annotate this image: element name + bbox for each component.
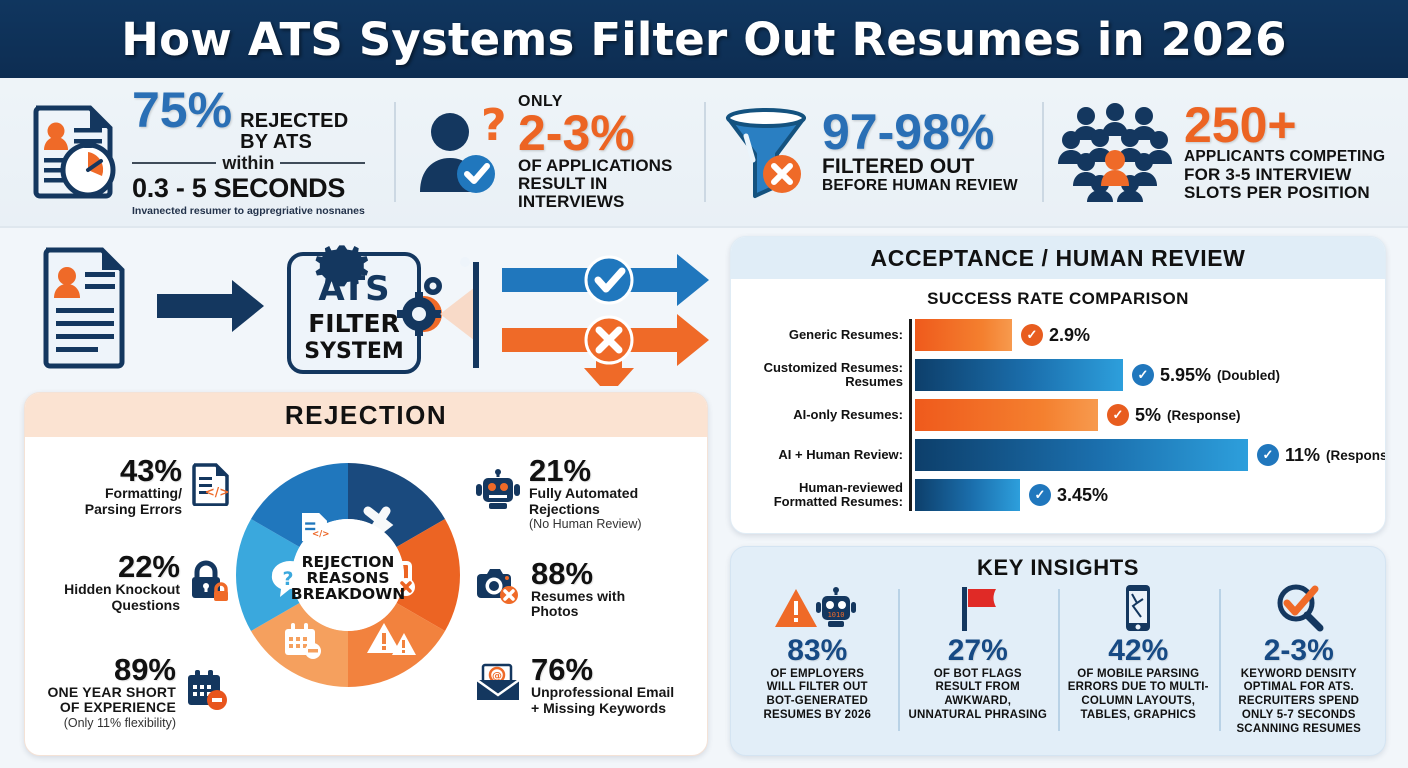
stat-value: 250+ bbox=[1184, 102, 1385, 150]
bar-generic-resumes bbox=[915, 319, 1012, 351]
key-insight-number: 2-3% bbox=[1264, 635, 1334, 667]
svg-text:</>: </> bbox=[205, 485, 230, 499]
svg-text:</>: </> bbox=[312, 529, 330, 539]
stat-label-line2: RESULT IN INTERVIEWS bbox=[518, 175, 704, 210]
page-header: How ATS Systems Filter Out Resumes in 20… bbox=[0, 0, 1408, 78]
file-code-icon: </> bbox=[190, 462, 230, 511]
calendar-minus-icon bbox=[184, 668, 230, 717]
item-desc-1: Fully Automated bbox=[529, 486, 642, 502]
email-at-icon: @ bbox=[475, 662, 523, 709]
item-desc-1: Resumes with bbox=[531, 589, 625, 605]
list-item: 89% ONE YEAR SHORT OF EXPERIENCE (Only 1… bbox=[25, 654, 230, 731]
key-insight-number: 27% bbox=[948, 635, 1008, 667]
bar-category: Human-reviewedFormatted Resumes: bbox=[731, 481, 909, 509]
stat-value: 97-98% bbox=[822, 109, 1018, 157]
item-pct: 89% bbox=[47, 654, 176, 685]
item-pct: 88% bbox=[531, 558, 625, 589]
stat-label-line2: BY ATS bbox=[240, 131, 312, 153]
acceptance-panel: ACCEPTANCE / HUMAN REVIEW SUCCESS RATE C… bbox=[730, 236, 1386, 534]
chart-bar-row: Human-reviewedFormatted Resumes: ✓ 3.45% bbox=[731, 479, 1114, 511]
svg-text:?: ? bbox=[481, 100, 507, 151]
chart-subtitle: SUCCESS RATE COMPARISON bbox=[731, 289, 1385, 309]
key-insight-text: KEYWORD DENSITY OPTIMAL FOR ATS. RECRUIT… bbox=[1236, 668, 1361, 737]
bar-note: (Response) bbox=[1167, 408, 1241, 423]
bar-value-group: ✓ 11% (Response) bbox=[1257, 444, 1386, 466]
item-note: (Only 11% flexibility) bbox=[47, 716, 176, 730]
stat-label-line3: SLOTS PER POSITION bbox=[1184, 184, 1385, 202]
rejection-donut-chart: </> ? bbox=[228, 455, 468, 695]
item-desc-2: Parsing Errors bbox=[85, 502, 182, 518]
bar-value: 2.9% bbox=[1049, 325, 1090, 346]
item-desc-1: Formatting/ bbox=[85, 486, 182, 502]
resume-stopwatch-icon bbox=[26, 98, 122, 207]
stat-value: 75% bbox=[132, 87, 232, 135]
bar-category: AI-only Resumes: bbox=[731, 408, 909, 422]
infographic-page: How ATS Systems Filter Out Resumes in 20… bbox=[0, 0, 1408, 768]
acceptance-panel-header: ACCEPTANCE / HUMAN REVIEW bbox=[731, 237, 1385, 279]
donut-center-line3: BREAKDOWN bbox=[291, 585, 405, 603]
page-title: How ATS Systems Filter Out Resumes in 20… bbox=[121, 13, 1286, 66]
bar-note: (Doubled) bbox=[1217, 368, 1280, 383]
bar-value-group: ✓ 3.45% bbox=[1029, 484, 1114, 506]
svg-text:FILTER: FILTER bbox=[308, 309, 400, 338]
item-desc-1: ONE YEAR SHORT bbox=[47, 685, 176, 701]
check-circle-icon: ✓ bbox=[1021, 324, 1043, 346]
resume-document-icon bbox=[46, 250, 122, 366]
key-insight-text: OF MOBILE PARSING ERRORS DUE TO MULTI- C… bbox=[1068, 668, 1209, 723]
magnifier-check-icon bbox=[1272, 585, 1326, 633]
check-circle-icon: ✓ bbox=[1132, 364, 1154, 386]
item-desc-2: Rejections bbox=[529, 502, 642, 518]
rejection-right-list: 21% Fully Automated Rejections (No Human… bbox=[475, 455, 707, 728]
check-circle-icon: ✓ bbox=[1257, 444, 1279, 466]
list-item: 88% Resumes with Photos bbox=[475, 558, 707, 620]
bar-ai-only-resumes bbox=[915, 399, 1098, 431]
key-insight-text: OF BOT FLAGS RESULT FROM AWKWARD, UNNATU… bbox=[908, 668, 1047, 723]
bar-value-group: ✓ 5% (Response) bbox=[1107, 404, 1241, 426]
check-circle-icon: ✓ bbox=[1107, 404, 1129, 426]
chart-bar-row: AI-only Resumes: ✓ 5% (Response) bbox=[731, 399, 1241, 431]
ats-flow-diagram: ATS FILTER SYSTEM bbox=[24, 236, 724, 386]
key-insights-panel: KEY INSIGHTS 1010 83% bbox=[730, 546, 1386, 756]
bar-value: 11% bbox=[1285, 445, 1320, 466]
bar-ai-plus-human-review bbox=[915, 439, 1248, 471]
stat-label-line2: BEFORE HUMAN REVIEW bbox=[822, 178, 1018, 195]
chart-bar-row: AI + Human Review: ✓ 11% (Response) bbox=[731, 439, 1386, 471]
reject-arrow bbox=[502, 314, 709, 386]
stat-within-label: within bbox=[132, 153, 365, 174]
rejection-panel: REJECTION 43% Formatting/ Parsing Errors bbox=[24, 392, 708, 756]
top-stats-strip: 75% REJECTED BY ATS within 0.3 - 5 SECON… bbox=[0, 78, 1408, 228]
stat-label-line1: REJECTED bbox=[240, 110, 348, 132]
key-insights-title: KEY INSIGHTS bbox=[731, 547, 1385, 581]
stat-label-line2: FOR 3-5 INTERVIEW bbox=[1184, 166, 1385, 184]
stat-value: 2-3% bbox=[518, 110, 704, 158]
chart-bar-row: Generic Resumes: ✓ 2.9% bbox=[731, 319, 1096, 351]
stat-label-line1: OF APPLICATIONS bbox=[518, 157, 704, 175]
stat-label-line1: FILTERED OUT bbox=[822, 156, 1018, 178]
rejection-panel-header: REJECTION bbox=[25, 393, 707, 437]
crowd-people-icon bbox=[1056, 98, 1174, 207]
svg-text:SYSTEM: SYSTEM bbox=[304, 339, 404, 364]
item-note: (No Human Review) bbox=[529, 517, 642, 531]
key-insight-mobile-parsing: 42% OF MOBILE PARSING ERRORS DUE TO MULT… bbox=[1058, 585, 1219, 741]
item-desc-2: + Missing Keywords bbox=[531, 701, 674, 717]
item-pct: 21% bbox=[529, 455, 642, 486]
key-insight-keyword-density: 2-3% KEYWORD DENSITY OPTIMAL FOR ATS. RE… bbox=[1219, 585, 1380, 741]
bar-category: Generic Resumes: bbox=[731, 328, 909, 342]
check-circle-icon: ✓ bbox=[1029, 484, 1051, 506]
stat-filtered-out: 97-98% FILTERED OUT BEFORE HUMAN REVIEW bbox=[704, 96, 1042, 208]
bar-value: 5% bbox=[1135, 405, 1161, 426]
bar-value-group: ✓ 5.95% (Doubled) bbox=[1132, 364, 1280, 386]
item-desc-2: Questions bbox=[64, 598, 180, 614]
list-item: 43% Formatting/ Parsing Errors </> bbox=[25, 455, 230, 517]
bar-human-reviewed-formatted bbox=[915, 479, 1020, 511]
key-insight-number: 83% bbox=[787, 635, 847, 667]
bar-customized-resumes bbox=[915, 359, 1123, 391]
item-pct: 43% bbox=[85, 455, 182, 486]
rejection-left-list: 43% Formatting/ Parsing Errors </> bbox=[25, 455, 230, 742]
broken-phone-icon bbox=[1117, 585, 1159, 633]
list-item: 22% Hidden Knockout Questions bbox=[25, 551, 230, 613]
funnel-x-icon bbox=[720, 100, 812, 205]
stat-applicants-competing: 250+ APPLICANTS COMPETING FOR 3-5 INTERV… bbox=[1042, 96, 1408, 208]
item-desc-1: Unprofessional Email bbox=[531, 685, 674, 701]
red-flag-icon bbox=[950, 585, 1006, 633]
stat-subtext: Invanected resumer to agpregriative nosn… bbox=[132, 205, 365, 217]
acceptance-title: ACCEPTANCE / HUMAN REVIEW bbox=[871, 245, 1246, 272]
bar-category: AI + Human Review: bbox=[731, 448, 909, 462]
accept-arrow bbox=[502, 254, 709, 306]
key-insight-bot-flags: 27% OF BOT FLAGS RESULT FROM AWKWARD, UN… bbox=[898, 585, 1059, 741]
lock-icon bbox=[188, 558, 230, 607]
chart-bar-row: Customized Resumes:Resumes ✓ 5.95% (Doub… bbox=[731, 359, 1280, 391]
warning-robot-icon: 1010 bbox=[774, 585, 860, 633]
stat-label-line1: APPLICANTS COMPETING bbox=[1184, 149, 1385, 166]
person-question-check-icon: ? bbox=[412, 100, 508, 205]
key-insight-employers-filter: 1010 83% OF EMPLOYERS WILL FILTER OUT BO… bbox=[737, 585, 898, 741]
item-desc-2: Photos bbox=[531, 604, 625, 620]
item-pct: 22% bbox=[64, 551, 180, 582]
key-insight-number: 42% bbox=[1108, 635, 1168, 667]
stat-rejected-by-ats: 75% REJECTED BY ATS within 0.3 - 5 SECON… bbox=[0, 96, 394, 208]
camera-x-icon bbox=[475, 566, 523, 611]
bar-value: 3.45% bbox=[1057, 485, 1108, 506]
bar-note: (Response) bbox=[1326, 448, 1386, 463]
stat-applications-interviews: ? ONLY 2-3% OF APPLICATIONS RESULT IN IN… bbox=[394, 96, 704, 208]
item-desc-1: Hidden Knockout bbox=[64, 582, 180, 598]
key-insight-text: OF EMPLOYERS WILL FILTER OUT BOT-GENERAT… bbox=[763, 668, 871, 723]
item-desc-2: OF EXPERIENCE bbox=[47, 700, 176, 716]
item-pct: 76% bbox=[531, 654, 674, 685]
robot-icon bbox=[475, 469, 521, 518]
stat-seconds: 0.3 - 5 SECONDS bbox=[132, 175, 365, 202]
arrow-right-icon bbox=[157, 280, 264, 332]
success-rate-chart: Generic Resumes: ✓ 2.9% Customized Resum… bbox=[731, 317, 1385, 517]
bar-category: Customized Resumes:Resumes bbox=[731, 361, 909, 389]
list-item: @ 76% Unprofessional Email + Missing Key… bbox=[475, 654, 707, 716]
list-item: 21% Fully Automated Rejections (No Human… bbox=[475, 455, 707, 532]
rejection-title: REJECTION bbox=[285, 400, 447, 431]
svg-text:1010: 1010 bbox=[828, 611, 845, 619]
bar-value: 5.95% bbox=[1160, 365, 1211, 386]
bar-value-group: ✓ 2.9% bbox=[1021, 324, 1096, 346]
